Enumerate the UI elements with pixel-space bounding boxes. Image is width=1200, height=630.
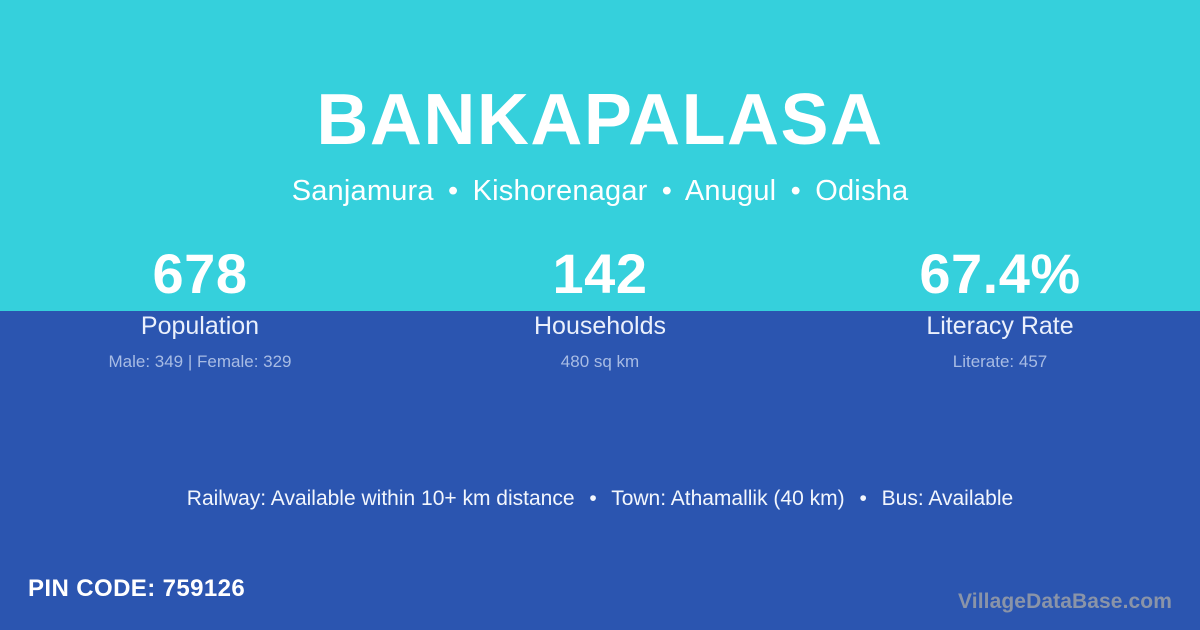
stat-label: Literacy Rate (800, 312, 1200, 341)
stat-sublabel: Literate: 457 (800, 352, 1200, 372)
stat-sublabel: Male: 349 | Female: 329 (0, 352, 400, 372)
stats-row: 678 Population Male: 349 | Female: 329 1… (0, 243, 1200, 372)
stat-value: 142 (400, 243, 800, 306)
stat-value: 67.4% (800, 243, 1200, 306)
stat-label: Households (400, 312, 800, 341)
breadcrumb-separator: • (785, 175, 807, 207)
breadcrumb-separator: • (656, 175, 678, 207)
breadcrumb-separator: • (442, 175, 464, 207)
location-breadcrumb: Sanjamura • Kishorenagar • Anugul • Odis… (0, 176, 1200, 208)
stat-literacy-rate: 67.4% Literacy Rate Literate: 457 (800, 243, 1200, 372)
breadcrumb-part-district: Anugul (685, 175, 777, 207)
breadcrumb-part-state: Odisha (815, 175, 908, 207)
stat-population: 678 Population Male: 349 | Female: 329 (0, 243, 400, 372)
infra-item-town: Town: Athamallik (40 km) (611, 487, 844, 510)
breadcrumb-part-subdistrict: Kishorenagar (473, 175, 648, 207)
page-title: BANKAPALASA (0, 84, 1200, 156)
header: BANKAPALASA Sanjamura • Kishorenagar • A… (0, 0, 1200, 208)
stat-value: 678 (0, 243, 400, 306)
infra-separator: • (580, 487, 605, 510)
infra-separator: • (850, 487, 875, 510)
stat-households: 142 Households 480 sq km (400, 243, 800, 372)
infra-item-railway: Railway: Available within 10+ km distanc… (187, 487, 575, 510)
infrastructure-line: Railway: Available within 10+ km distanc… (0, 485, 1200, 512)
infra-item-bus: Bus: Available (882, 487, 1014, 510)
stat-sublabel: 480 sq km (400, 352, 800, 372)
pin-code: PIN CODE: 759126 (28, 575, 245, 603)
site-watermark: VillageDataBase.com (958, 590, 1172, 614)
breadcrumb-part-block: Sanjamura (292, 175, 434, 207)
stat-label: Population (0, 312, 400, 341)
